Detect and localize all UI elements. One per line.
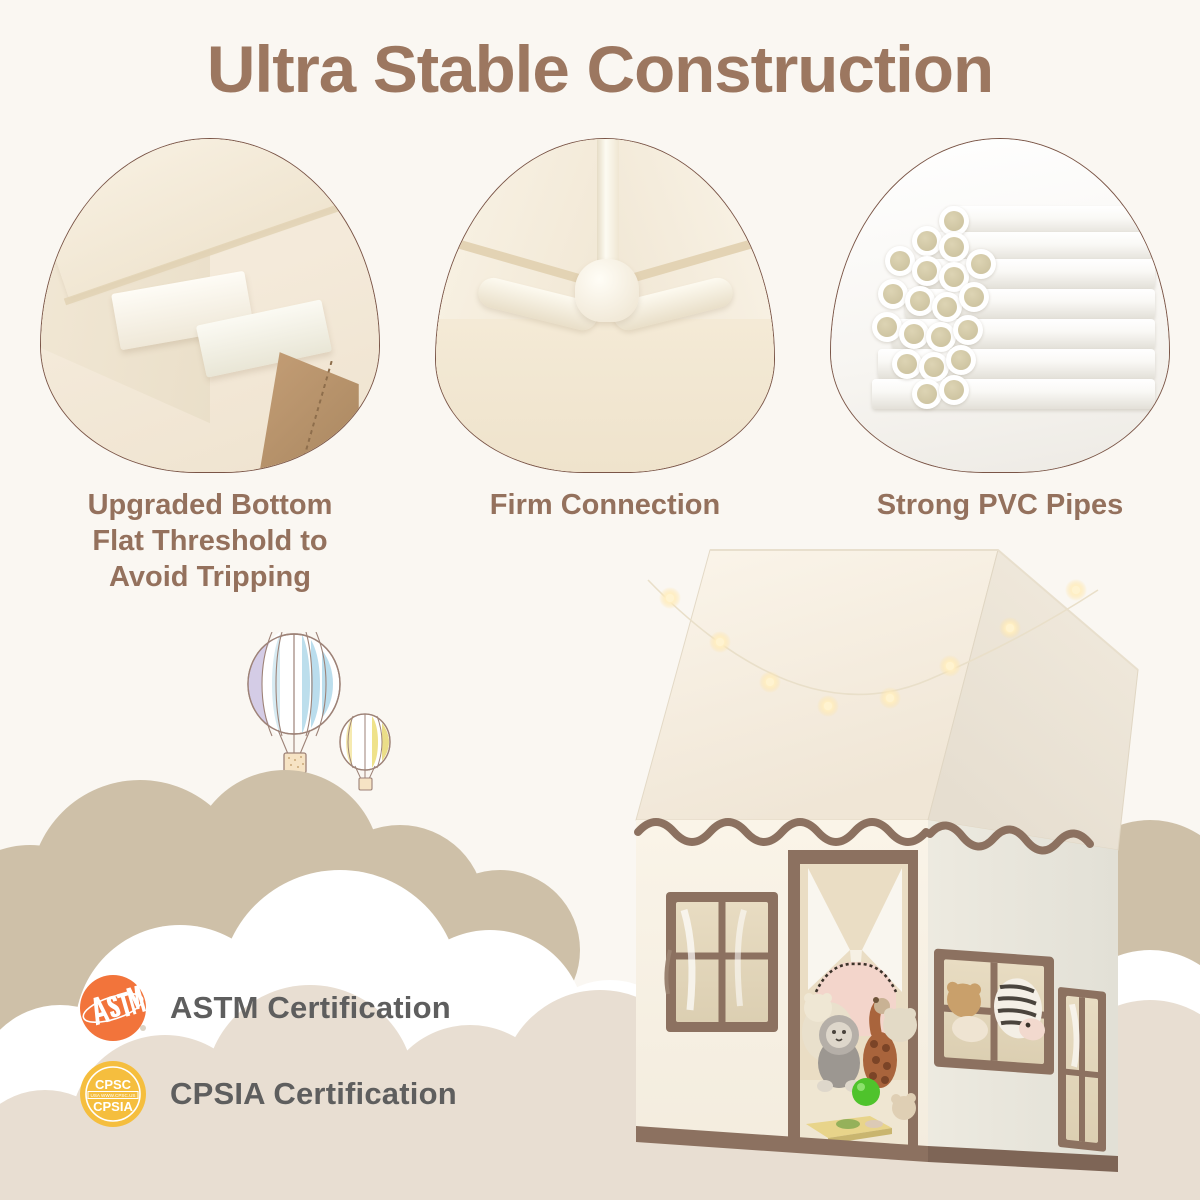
tent-window-left [666,892,778,1032]
feature-caption-1: Upgraded Bottom Flat Threshold to Avoid … [20,487,400,595]
teardrop-frame-icon [435,138,775,473]
cert-label-cpsia: CPSIA Certification [170,1076,457,1112]
cert-row-astm: ASTM Certification [78,965,548,1051]
feature-photo-frame-3 [830,138,1170,473]
svg-text:CPSC: CPSC [95,1077,132,1092]
svg-text:CPSIA: CPSIA [93,1099,133,1114]
tent-window-right [934,948,1054,1074]
cert-label-astm: ASTM Certification [170,990,451,1026]
photo-upgraded-bottom [41,139,379,472]
feature-photo-frame-2 [435,138,775,473]
page-title: Ultra Stable Construction [0,32,1200,106]
astm-seal-icon [78,973,148,1043]
teardrop-frame-icon [40,138,380,473]
feature-firm-connection: Firm Connection [415,138,795,523]
cpsia-seal-icon: CPSC USA WWW.CPSC.US CPSIA [78,1059,148,1129]
photo-firm-connection [436,139,774,472]
feature-caption-2: Firm Connection [415,487,795,523]
product-playhouse-tent [498,520,1198,1200]
cert-row-cpsia: CPSC USA WWW.CPSC.US CPSIA CPSIA Certifi… [78,1051,548,1137]
feature-strong-pvc-pipes: Strong PVC Pipes [810,138,1190,523]
certification-list: ASTM Certification CPSC USA WWW.CPSC.US … [78,965,548,1137]
tent-doorway [788,850,918,1160]
tent-window-side [1058,987,1106,1152]
feature-photo-frame-1 [40,138,380,473]
large-balloon-icon [248,632,340,773]
teardrop-frame-icon [830,138,1170,473]
feature-upgraded-bottom: Upgraded Bottom Flat Threshold to Avoid … [20,138,400,595]
svg-text:USA WWW.CPSC.US: USA WWW.CPSC.US [91,1093,136,1098]
photo-strong-pvc-pipes [831,139,1169,472]
feature-caption-3: Strong PVC Pipes [810,487,1190,523]
